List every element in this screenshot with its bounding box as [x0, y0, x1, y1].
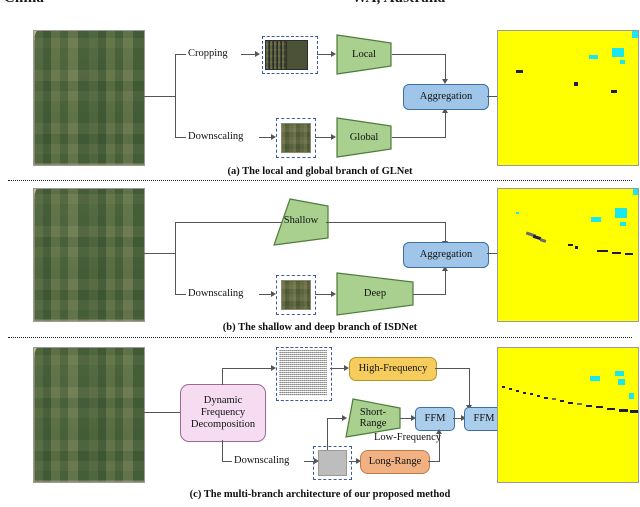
- panel-b-bottom-branch-line: [175, 294, 186, 295]
- seg-curve-dot: [544, 397, 548, 399]
- seg-curve-dot: [552, 398, 556, 400]
- seg-region-cyan: [591, 217, 601, 222]
- panel-c-ffm-block-1: FFM: [415, 407, 455, 431]
- panel-b-aggregation-block: Aggregation: [403, 242, 489, 268]
- panel-b-label-downscaling: Downscaling: [188, 288, 243, 299]
- panel-c-segmentation-map: [497, 347, 639, 483]
- panel-b-downscaling-arrow-line: [259, 294, 271, 295]
- panel-c-dynamic-frequency-decomposition-block: Dynamic Frequency Decomposition: [180, 384, 266, 442]
- seg-curve-dot: [619, 409, 628, 412]
- panel-c-downscale-line: [222, 461, 232, 462]
- seg-curve-dot: [537, 395, 540, 397]
- seg-region-cyan: [618, 379, 625, 385]
- panel-b-split-line: [175, 222, 176, 295]
- panel-c-long-range-block: Long-Range: [360, 450, 430, 474]
- panel-c-high-frequency-block: High-Frequency: [349, 357, 437, 381]
- seg-region-cyan: [633, 189, 638, 195]
- seg-curve-dot: [596, 406, 603, 408]
- panel-c-downscale-dropper-line: [222, 440, 223, 462]
- panel-c: Dynamic Frequency Decomposition High-Fre…: [0, 0, 640, 170]
- panel-c-noise-to-hf-line: [330, 368, 344, 369]
- dfd-line-1: Dynamic: [204, 395, 243, 407]
- seg-region-cyan: [620, 222, 626, 226]
- seg-curve-dot: [577, 403, 582, 405]
- panel-c-label-low-frequency: Low-Frequency: [374, 432, 441, 443]
- panel-c-hf-down-line: [469, 368, 470, 406]
- panel-b-downscaled-image: [281, 280, 311, 310]
- panel-c-short-range-riser-line: [327, 418, 328, 450]
- dfd-line-2: Frequency: [201, 407, 245, 419]
- panel-b-deep-encoder: Deep: [336, 272, 414, 316]
- seg-region-dark: [612, 252, 621, 254]
- figure-canvas: , China WA, Australia Cropping Downscali…: [0, 0, 640, 507]
- panel-b-segmentation-map: [497, 188, 639, 322]
- seg-region-cyan: [615, 371, 624, 376]
- panel-c-short-range-feed-line: [327, 418, 343, 419]
- panel-b-deep-up-line: [445, 270, 446, 295]
- panel-c-input-image: [33, 347, 145, 483]
- panel-b-trunk-line: [144, 253, 175, 254]
- seg-region-cyan: [516, 212, 519, 214]
- seg-curve-dot: [586, 405, 592, 407]
- panel-c-downscaled-image: [318, 450, 347, 476]
- seg-curve-dot: [523, 392, 526, 394]
- panel-divider-1: [8, 180, 632, 181]
- panel-b-shallow-encoder: Shallow: [273, 198, 329, 246]
- seg-curve-dot: [502, 386, 505, 388]
- seg-curve-dot: [509, 388, 512, 390]
- panel-c-trunk-line: [144, 412, 180, 413]
- seg-region-cyan: [590, 376, 600, 381]
- panel-b-shallow-down-line: [445, 222, 446, 242]
- seg-curve-dot: [560, 400, 564, 402]
- seg-region-dark: [597, 250, 608, 252]
- panel-c-caption: (c) The multi-branch architecture of our…: [0, 489, 640, 500]
- panel-c-hf-top-line: [222, 368, 271, 369]
- panel-b-caption: (b) The shallow and deep branch of ISDNe…: [0, 322, 640, 333]
- panel-b-downscaled-to-deep-line: [315, 294, 331, 295]
- seg-curve-dot: [630, 410, 638, 413]
- seg-curve-dot: [568, 402, 573, 404]
- seg-curve-dot: [607, 408, 615, 410]
- seg-curve-dot: [516, 390, 519, 392]
- panel-b-deep-out-line: [413, 294, 446, 295]
- seg-region-cyan: [615, 208, 627, 218]
- panel-c-label-downscaling: Downscaling: [234, 455, 289, 466]
- panel-b-input-image: [33, 188, 145, 322]
- dfd-line-3: Decomposition: [191, 419, 255, 431]
- seg-region-cyan: [629, 393, 634, 399]
- panel-divider-2: [8, 337, 632, 338]
- seg-region-dark: [540, 238, 547, 243]
- seg-region-dark: [568, 244, 573, 246]
- seg-region-dark: [625, 253, 633, 255]
- panel-c-hf-out-line: [435, 368, 470, 369]
- panel-b-shallow-out-line: [326, 222, 446, 223]
- panel-c-hf-riser-line: [222, 368, 223, 385]
- seg-region-dark: [575, 246, 578, 249]
- panel-c-highfreq-noise-image: [279, 350, 327, 396]
- seg-curve-dot: [530, 393, 533, 395]
